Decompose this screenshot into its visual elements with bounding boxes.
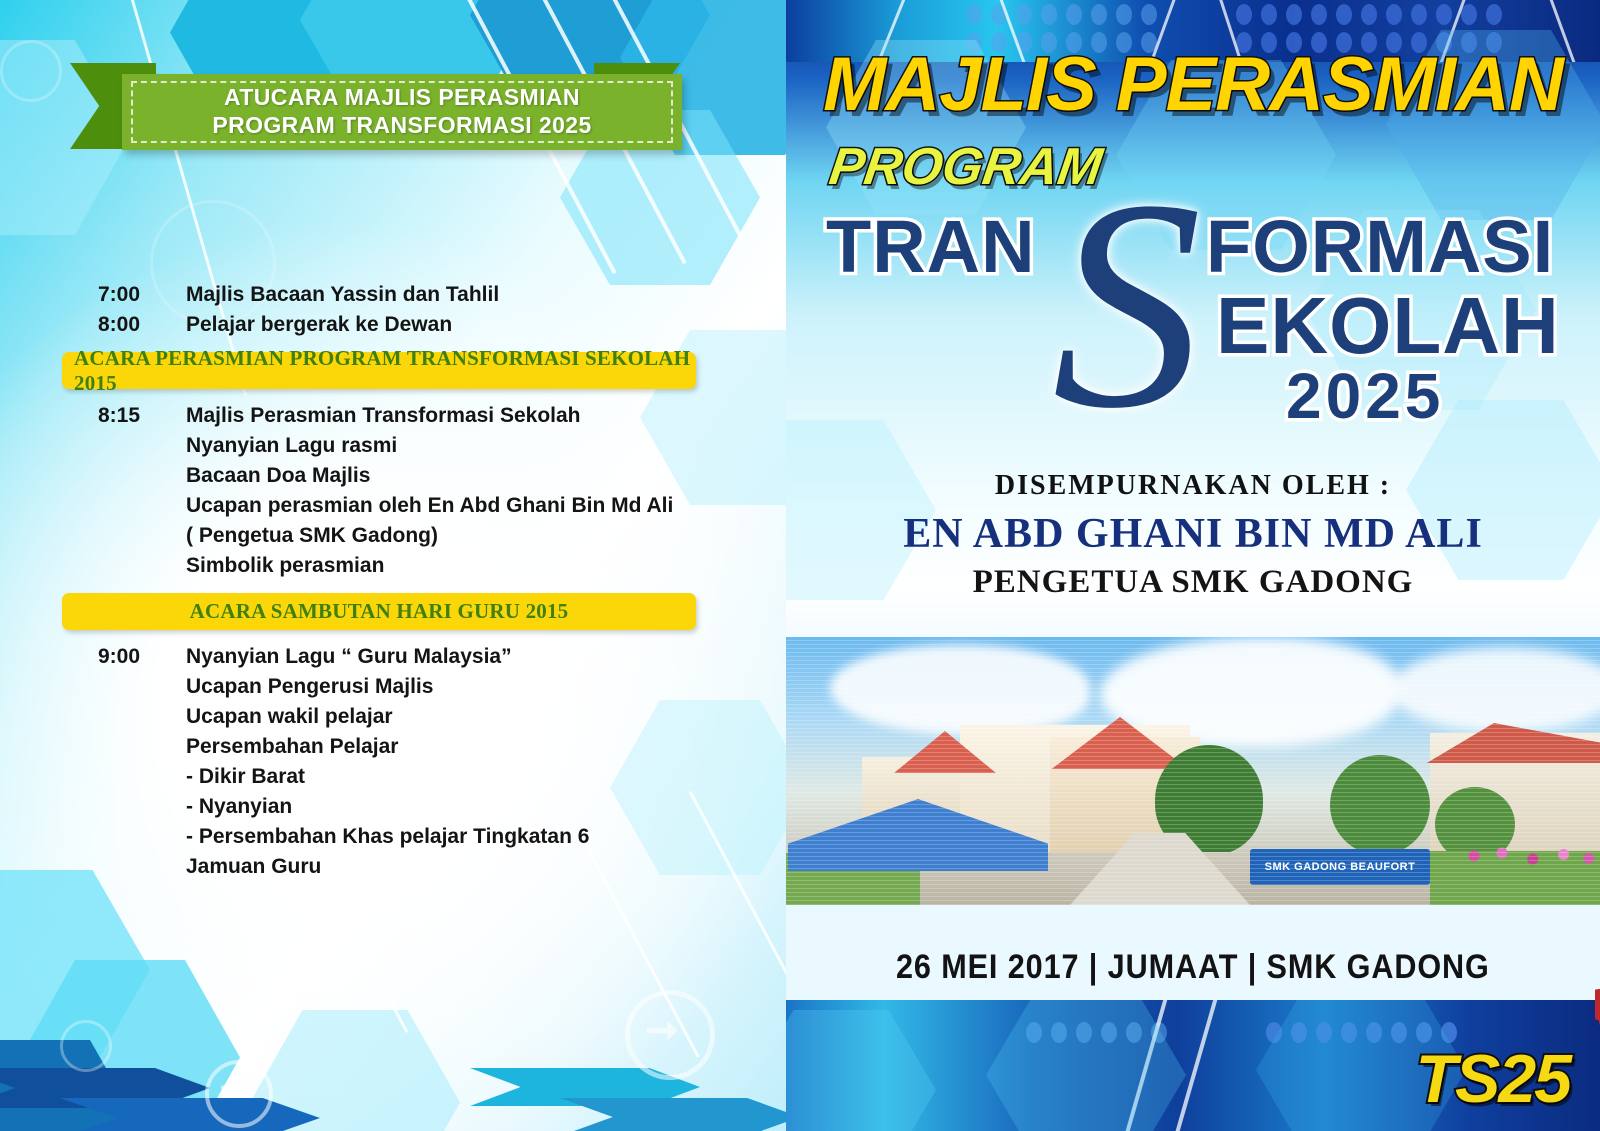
schedule-desc: Pelajar bergerak ke Dewan (186, 310, 452, 340)
arrow-circle-decor (60, 1020, 112, 1072)
schedule-desc-group: Nyanyian Lagu “ Guru Malaysia” Ucapan Pe… (186, 642, 512, 762)
logo-word-ekolah: EKOLAH (1216, 285, 1560, 367)
schedule-time-empty (98, 852, 186, 882)
event-datebar-text: 26 MEI 2017 | JUMAAT | SMK GADONG (896, 948, 1490, 987)
schedule-subitem: - Dikir Barat (0, 762, 786, 792)
arrow-icon: ➞ (220, 1073, 245, 1103)
schedule-desc: Bacaan Doa Majlis (186, 461, 673, 491)
schedule-row: 8:00 Pelajar bergerak ke Dewan (0, 310, 786, 340)
schedule-time: 8:15 (98, 401, 186, 581)
schedule-time: 7:00 (98, 280, 186, 310)
poster-root: ➞ ➞ ATUCARA MAJLIS PERASMIAN PROGRAM TRA… (0, 0, 1600, 1131)
logo-word-formasi: FORMASI (1206, 209, 1554, 285)
officiator-role: PENGETUA SMK GADONG (786, 564, 1600, 601)
hex-decor (786, 1010, 936, 1131)
section-banner-hari-guru: ACARA SAMBUTAN HARI GURU 2015 (62, 593, 696, 630)
school-photograph: SMK GADONG BEAUFORT (786, 637, 1600, 905)
officiator-name: EN ABD GHANI BIN MD ALI (786, 510, 1600, 558)
officiator-label: DISEMPURNAKAN OLEH : (786, 470, 1600, 502)
schedule-desc: Majlis Perasmian Transformasi Sekolah (186, 401, 673, 431)
schedule-time: 9:00 (98, 642, 186, 762)
ribbon-line-2: PROGRAM TRANSFORMASI 2025 (122, 111, 682, 139)
schedule-row: 8:15 Majlis Perasmian Transformasi Sekol… (0, 401, 786, 581)
ribbon-text: ATUCARA MAJLIS PERASMIAN PROGRAM TRANSFO… (122, 83, 682, 139)
arrow-icon: ➞ (645, 1010, 679, 1050)
ribbon-body: ATUCARA MAJLIS PERASMIAN PROGRAM TRANSFO… (122, 74, 682, 150)
schedule-desc: Majlis Bacaan Yassin dan Tahlil (186, 280, 499, 310)
logo-year-2025: 2025 (1286, 363, 1444, 429)
chevron-decor (560, 1098, 786, 1131)
schedule-row: Jamuan Guru (0, 852, 786, 882)
schedule-subitem: - Nyanyian (0, 792, 786, 822)
schedule-desc: Jamuan Guru (186, 852, 321, 882)
programme-title-ribbon: ATUCARA MAJLIS PERASMIAN PROGRAM TRANSFO… (70, 63, 680, 149)
schedule-desc: Simbolik perasmian (186, 551, 673, 581)
photo-texture-overlay (786, 637, 1600, 905)
schedule-desc: Ucapan perasmian oleh En Abd Ghani Bin M… (186, 491, 673, 521)
schedule-desc: Nyanyian Lagu “ Guru Malaysia” (186, 642, 512, 672)
officiator-block: DISEMPURNAKAN OLEH : EN ABD GHANI BIN MD… (786, 470, 1600, 601)
hex-decor (986, 1000, 1186, 1131)
schedule-row: 9:00 Nyanyian Lagu “ Guru Malaysia” Ucap… (0, 642, 786, 762)
logo-word-tran: TRAN (826, 209, 1036, 285)
arrow-circle-decor (0, 40, 62, 102)
section-banner-hari-guru-text: ACARA SAMBUTAN HARI GURU 2015 (62, 599, 696, 624)
ribbon-line-1: ATUCARA MAJLIS PERASMIAN (122, 83, 682, 111)
headline-majlis-perasmian: MAJLIS PERASMIAN (786, 46, 1600, 124)
schedule-desc: Nyanyian Lagu rasmi (186, 431, 673, 461)
schedule-desc: ( Pengetua SMK Gadong) (186, 521, 673, 551)
schedule-desc-group: Majlis Perasmian Transformasi Sekolah Ny… (186, 401, 673, 581)
event-datebar: 26 MEI 2017 | JUMAAT | SMK GADONG (786, 948, 1600, 987)
section-banner-perasmian-text: ACARA PERASMIAN PROGRAM TRANSFORMASI SEK… (62, 346, 696, 396)
schedule-desc: Ucapan Pengerusi Majlis (186, 672, 512, 702)
schedule-row: 7:00 Majlis Bacaan Yassin dan Tahlil (0, 280, 786, 310)
left-panel-programme: ➞ ➞ ATUCARA MAJLIS PERASMIAN PROGRAM TRA… (0, 0, 786, 1131)
ts25-logo: TS25 (1415, 1045, 1570, 1113)
dot-pattern (966, 4, 1157, 25)
schedule-desc: Persembahan Pelajar (186, 732, 512, 762)
section-banner-perasmian: ACARA PERASMIAN PROGRAM TRANSFORMASI SEK… (62, 352, 696, 389)
schedule-desc: Ucapan wakil pelajar (186, 702, 512, 732)
programme-schedule: 7:00 Majlis Bacaan Yassin dan Tahlil 8:0… (0, 280, 786, 882)
schedule-time: 8:00 (98, 310, 186, 340)
schedule-subitem: - Persembahan Khas pelajar Tingkatan 6 (0, 822, 786, 852)
right-panel-cover: MAJLIS PERASMIAN PROGRAM TRAN S FORMASI … (786, 0, 1600, 1131)
transformasi-sekolah-logo: TRAN S FORMASI EKOLAH 2025 (816, 205, 1586, 420)
